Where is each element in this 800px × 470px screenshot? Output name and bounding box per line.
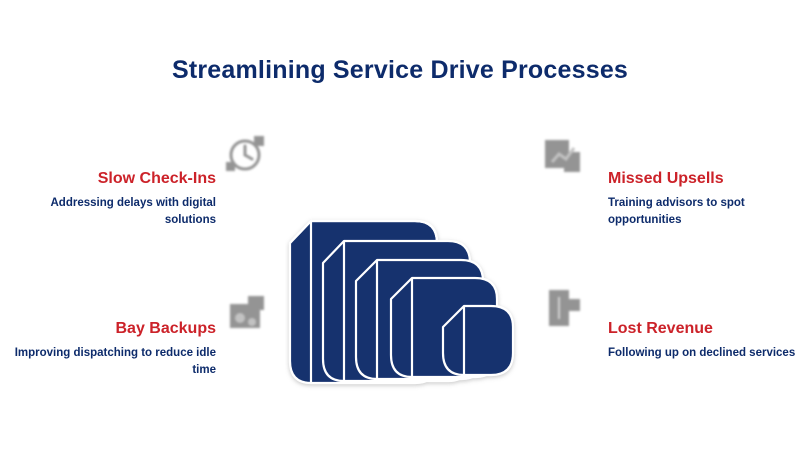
callout-missed-upsells: Missed Upsells Training advisors to spot… bbox=[608, 170, 800, 229]
funnel-diagram bbox=[285, 175, 535, 395]
callout-heading: Bay Backups bbox=[6, 320, 216, 338]
callout-slow-checkins: Slow Check-Ins Addressing delays with di… bbox=[6, 170, 216, 229]
funnel-stage-5 bbox=[443, 306, 513, 375]
callout-heading: Slow Check-Ins bbox=[6, 170, 216, 188]
callout-heading: Lost Revenue bbox=[608, 320, 800, 338]
clock-icon bbox=[222, 132, 268, 178]
callout-lost-revenue: Lost Revenue Following up on declined se… bbox=[608, 320, 800, 362]
page-title: Streamlining Service Drive Processes bbox=[0, 56, 800, 85]
dollar-icon bbox=[541, 285, 587, 331]
chart-up-icon bbox=[540, 134, 586, 180]
wrench-icon bbox=[224, 292, 270, 338]
infographic-canvas: Streamlining Service Drive Processes bbox=[0, 0, 800, 470]
callout-body: Following up on declined services bbox=[608, 345, 800, 362]
callout-body: Improving dispatching to reduce idle tim… bbox=[6, 345, 216, 378]
callout-heading: Missed Upsells bbox=[608, 170, 800, 188]
callout-bay-backups: Bay Backups Improving dispatching to red… bbox=[6, 320, 216, 379]
callout-body: Addressing delays with digital solutions bbox=[6, 195, 216, 228]
callout-body: Training advisors to spot opportunities bbox=[608, 195, 800, 228]
